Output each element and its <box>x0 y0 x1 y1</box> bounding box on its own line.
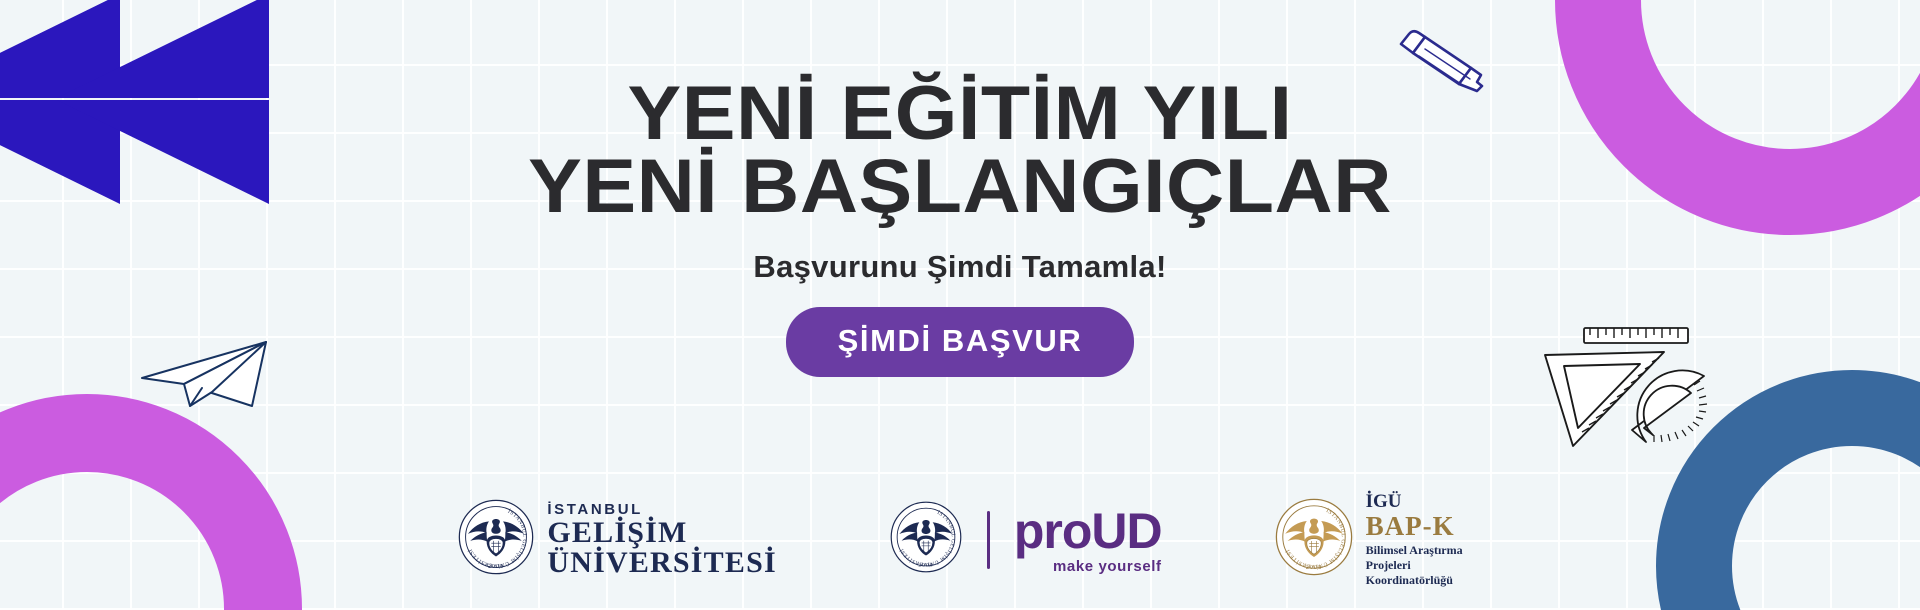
logo-strip: İSTANBUL GELİŞİM ÜNİVERSİTESİ <box>0 492 1920 588</box>
banner-subtitle: Başvurunu Şimdi Tamamla! <box>0 249 1920 285</box>
svg-text:2008: 2008 <box>918 563 933 569</box>
logo-proud: İSTANBUL GELİŞİM ÜNİVERSİTESİ <box>889 500 1162 579</box>
igu-crest-gold-icon: İSTANBUL GELİŞİM ÜNİVERSİTESİ <box>1274 497 1354 582</box>
proud-wordmark: proUD make yourself <box>1014 506 1162 574</box>
logo-istanbul-gelisim-universitesi: İSTANBUL GELİŞİM ÜNİVERSİTESİ <box>457 498 776 581</box>
bapk-wordmark: İGÜ BAP-K Bilimsel Araştırma Projeleri K… <box>1366 492 1463 588</box>
proud-tagline: make yourself <box>1014 559 1162 574</box>
cta-container: ŞİMDİ BAŞVUR <box>0 307 1920 377</box>
svg-text:2008: 2008 <box>488 565 504 571</box>
proud-name: proUD <box>1014 503 1162 559</box>
logo-bapk: İSTANBUL GELİŞİM ÜNİVERSİTESİ <box>1274 492 1463 588</box>
bapk-abbrev: İGÜ <box>1366 491 1402 512</box>
bapk-unit-name: Bilimsel Araştırma Projeleri Koordinatör… <box>1366 543 1463 588</box>
bapk-code: BAP-K <box>1366 512 1463 540</box>
headline-line-1: YENİ EĞİTİM YILI <box>0 78 1920 149</box>
logo-divider <box>987 511 990 569</box>
promo-banner: YENİ EĞİTİM YILI YENİ BAŞLANGIÇLAR Başvu… <box>0 0 1920 610</box>
headline-line-2: YENİ BAŞLANGIÇLAR <box>0 151 1920 222</box>
igu-wordmark: İSTANBUL GELİŞİM ÜNİVERSİTESİ <box>547 502 776 578</box>
igu-crest-icon: İSTANBUL GELİŞİM ÜNİVERSİTESİ <box>889 500 963 579</box>
banner-content: YENİ EĞİTİM YILI YENİ BAŞLANGIÇLAR Başvu… <box>0 0 1920 377</box>
igu-crest-icon: İSTANBUL GELİŞİM ÜNİVERSİTESİ <box>457 498 535 581</box>
igu-line-3: ÜNİVERSİTESİ <box>547 546 776 579</box>
svg-text:2008: 2008 <box>1305 565 1321 571</box>
apply-now-button[interactable]: ŞİMDİ BAŞVUR <box>786 307 1135 377</box>
igu-line-2: GELİŞİM <box>547 516 687 549</box>
